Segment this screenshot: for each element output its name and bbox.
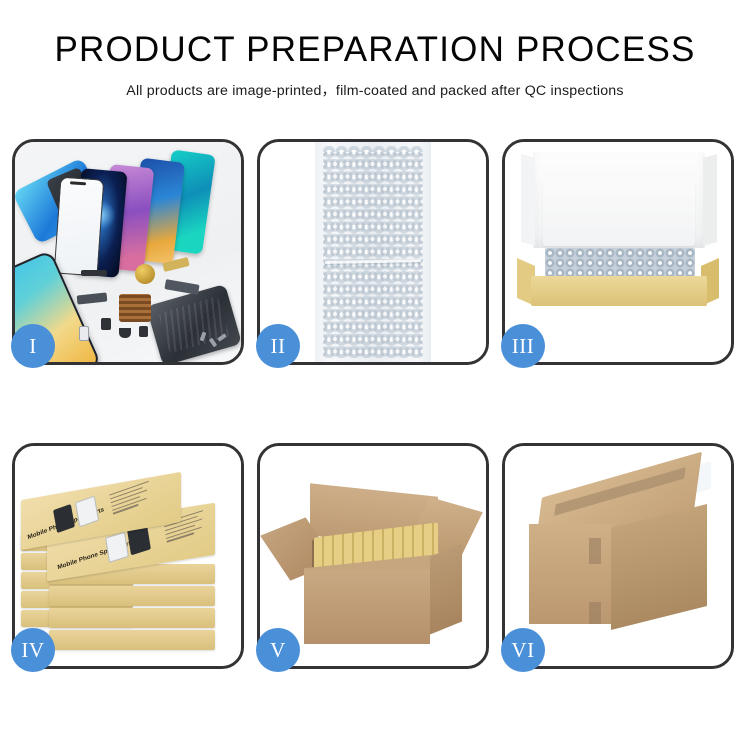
step-card-1: I xyxy=(12,139,244,365)
carton-seam-bottom xyxy=(589,602,601,624)
page-subtitle: All products are image-printed，film-coat… xyxy=(0,80,750,100)
step-badge-1: I xyxy=(11,324,55,368)
bubble-wrap-pouch xyxy=(315,142,431,362)
sealed-carton xyxy=(529,476,711,638)
phone-screen-fan xyxy=(57,148,237,266)
small-part-2 xyxy=(101,318,111,330)
carton-seam-top xyxy=(589,538,601,564)
process-steps-grid: I II III xyxy=(12,139,738,669)
step-card-6: VI xyxy=(502,443,734,669)
step-card-3: III xyxy=(502,139,734,365)
header: PRODUCT PREPARATION PROCESS All products… xyxy=(0,0,750,100)
bubble-grid-secondary xyxy=(323,152,423,358)
step-badge-4: IV xyxy=(11,628,55,672)
speaker-part xyxy=(135,264,155,284)
box-phone-image-light xyxy=(75,496,99,528)
step-3-image xyxy=(505,142,731,362)
flex-cable-1 xyxy=(77,292,108,304)
step-4-image: Mobile Phone Spare Parts Mobile Phone Sp… xyxy=(15,446,241,666)
carton-front-face xyxy=(304,570,430,644)
page-title: PRODUCT PREPARATION PROCESS xyxy=(0,32,750,67)
box-spec-lines xyxy=(109,479,158,517)
small-part-5 xyxy=(79,326,89,341)
step-badge-2: II xyxy=(256,324,300,368)
step-card-4: Mobile Phone Spare Parts Mobile Phone Sp… xyxy=(12,443,244,669)
step-card-2: II xyxy=(257,139,489,365)
flex-cable-2 xyxy=(164,279,199,295)
foam-sheet xyxy=(543,182,695,246)
retail-box-stack: Mobile Phone Spare Parts Mobile Phone Sp… xyxy=(21,464,237,660)
step-badge-3: III xyxy=(501,324,545,368)
box-front-panel xyxy=(531,276,707,306)
box-phone-image-dark xyxy=(53,504,75,533)
step-6-image xyxy=(505,446,731,666)
product-preparation-infographic: PRODUCT PREPARATION PROCESS All products… xyxy=(0,0,750,750)
stacked-box-edge xyxy=(49,608,215,628)
stacked-box-edge xyxy=(49,586,215,606)
stacked-box-edge xyxy=(49,630,215,650)
tempered-glass-protector xyxy=(54,177,105,277)
small-part-1 xyxy=(81,270,107,276)
small-part-4 xyxy=(139,326,148,337)
step-badge-5: V xyxy=(256,628,300,672)
screw-set xyxy=(201,332,227,352)
step-2-image xyxy=(260,142,486,362)
step-5-image xyxy=(260,446,486,666)
small-part-3 xyxy=(119,328,131,338)
copper-shield-pad xyxy=(119,294,151,322)
step-badge-6: VI xyxy=(501,628,545,672)
step-card-5: V xyxy=(257,443,489,669)
step-1-image xyxy=(15,142,241,362)
carton-side-face xyxy=(430,544,462,635)
box-phone-image-light xyxy=(105,532,129,563)
open-carton xyxy=(286,486,462,646)
